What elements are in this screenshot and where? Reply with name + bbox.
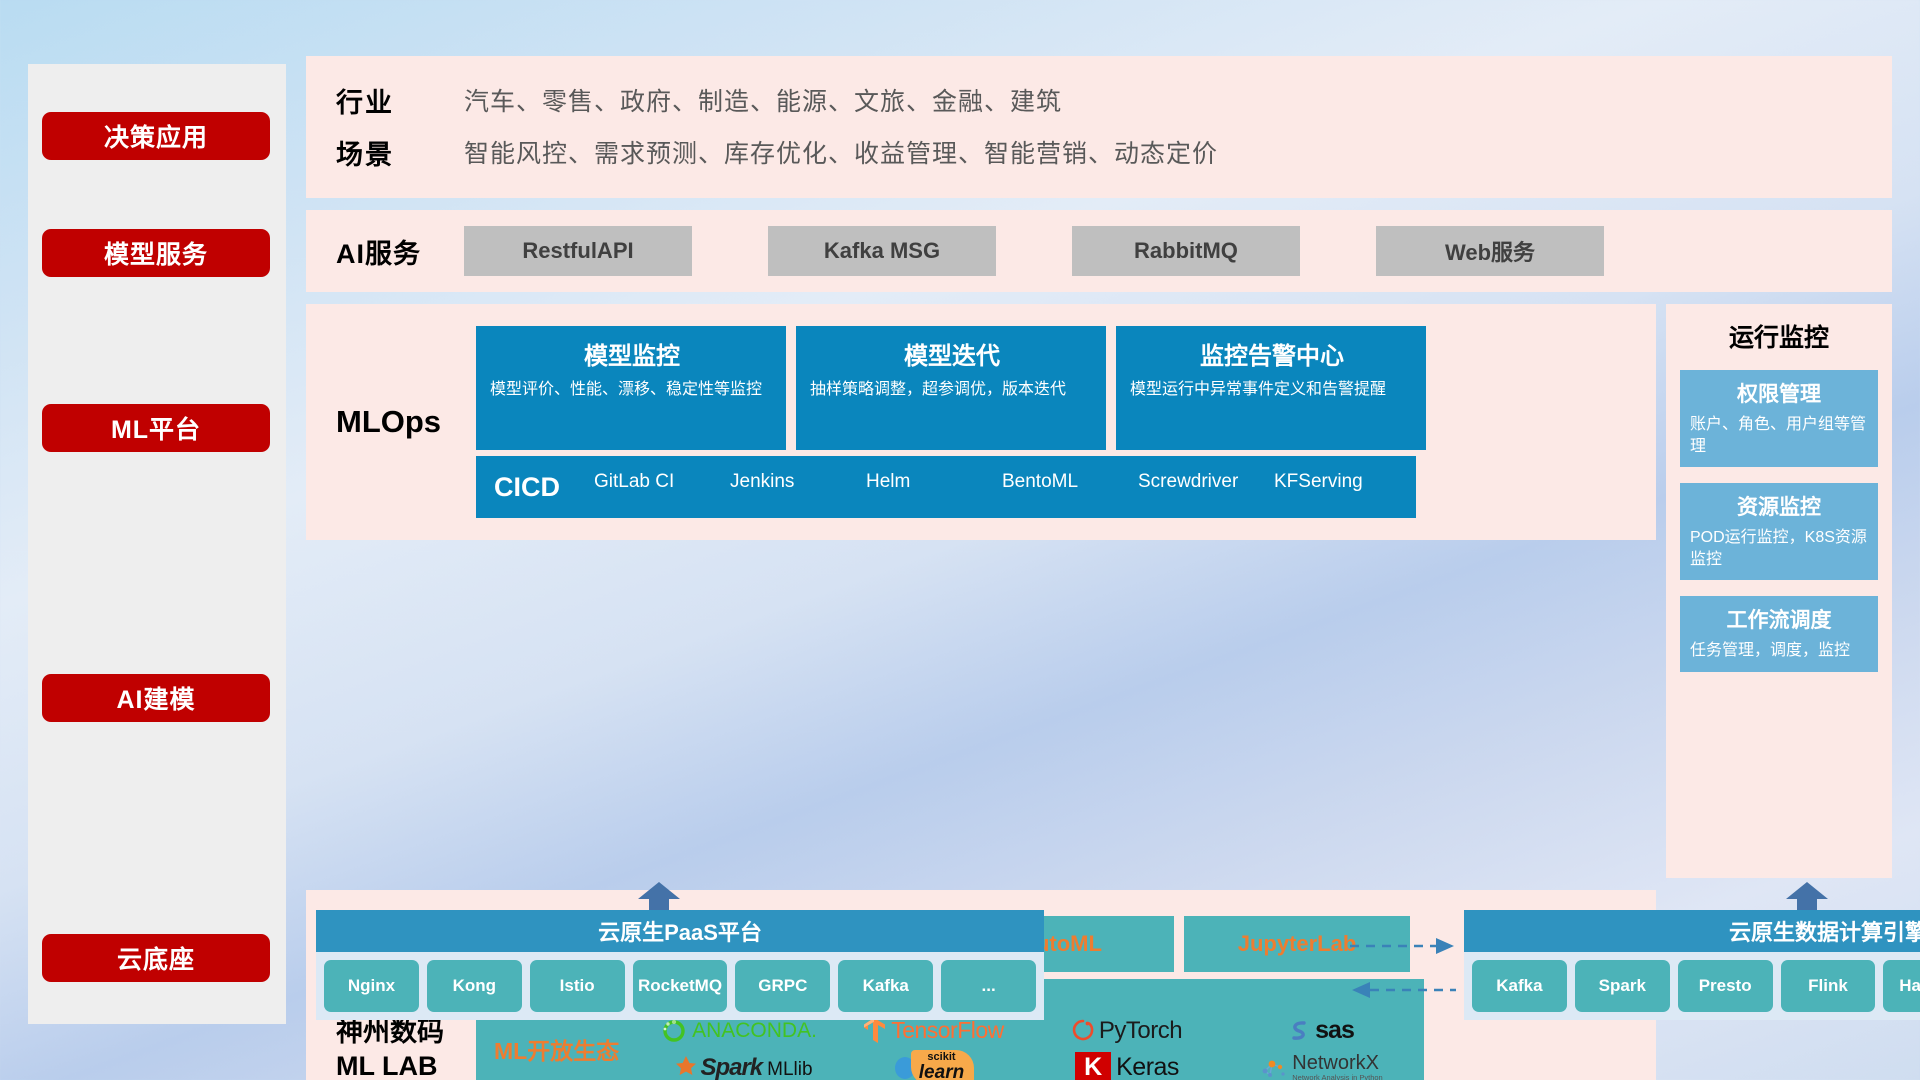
paas-chip-kafka[interactable]: Kafka [838, 960, 933, 1012]
cloud-native-paas-group: 云原生PaaS平台 Nginx Kong Istio RocketMQ GRPC… [316, 910, 1044, 1020]
spark-wordmark-wrap: Spark MLlib [700, 1054, 812, 1080]
ml-lab-label-line2: ML LAB [336, 1050, 476, 1080]
paas-chip-list: Nginx Kong Istio RocketMQ GRPC Kafka ... [316, 952, 1044, 1020]
card-title: 工作流调度 [1690, 604, 1868, 634]
spark-wordmark: Spark [700, 1054, 762, 1080]
ai-service-chip-web-service[interactable]: Web服务 [1376, 226, 1604, 276]
networkx-tagline: Network Analysis in Python [1292, 1073, 1382, 1080]
ai-service-chip-rabbitmq[interactable]: RabbitMQ [1072, 226, 1300, 276]
mlops-card-list: 模型监控 模型评价、性能、漂移、稳定性等监控 模型迭代 抽样策略调整，超参调优，… [476, 326, 1656, 450]
data-engine-chip-list: Kafka Spark Presto Flink Hadoop Storm ..… [1464, 952, 1920, 1020]
industry-value: 汽车、零售、政府、制造、能源、文旅、金融、建筑 [464, 82, 1062, 118]
ai-service-items: RestfulAPI Kafka MSG RabbitMQ Web服务 [464, 226, 1604, 276]
scenario-value: 智能风控、需求预测、库存优化、收益管理、智能营销、动态定价 [464, 134, 1218, 170]
arrow-left-head [1352, 982, 1370, 998]
cicd-item-gitlab-ci[interactable]: GitLab CI [594, 456, 730, 518]
ai-service-chip-kafka-msg[interactable]: Kafka MSG [768, 226, 996, 276]
data-engine-title: 云原生数据计算引擎 [1464, 910, 1920, 952]
mlops-and-monitor-row: MLOps 模型监控 模型评价、性能、漂移、稳定性等监控 模型迭代 抽样策略调整… [306, 304, 1892, 878]
learn-word: learn [919, 1063, 964, 1080]
left-stage-rail: 决策应用 模型服务 ML平台 AI建模 云底座 [28, 64, 286, 1024]
paas-chip-nginx[interactable]: Nginx [324, 960, 419, 1012]
cicd-item-bentoml[interactable]: BentoML [1002, 456, 1138, 518]
card-title: 监控告警中心 [1130, 336, 1414, 371]
networkx-logo: NetworkX Network Analysis in Python [1259, 1053, 1382, 1080]
engine-chip-spark[interactable]: Spark [1575, 960, 1670, 1012]
card-desc: POD运行监控，K8S资源监控 [1690, 527, 1868, 570]
ai-service-chip-restfulapi[interactable]: RestfulAPI [464, 226, 692, 276]
ai-service-label: AI服务 [336, 232, 464, 271]
bidirectional-link-arrows [1348, 934, 1458, 1004]
card-desc: 模型评价、性能、漂移、稳定性等监控 [490, 379, 774, 401]
industry-row: 行业 汽车、零售、政府、制造、能源、文旅、金融、建筑 [336, 74, 1892, 126]
runtime-monitor-rail: 运行监控 权限管理 账户、角色、用户组等管理 资源监控 POD运行监控，K8S资… [1666, 304, 1892, 878]
cicd-item-screwdriver[interactable]: Screwdriver [1138, 456, 1274, 518]
mlops-card-alert-center[interactable]: 监控告警中心 模型运行中异常事件定义和告警提醒 [1116, 326, 1426, 450]
stage-chip-ai-modeling[interactable]: AI建模 [42, 674, 270, 722]
engine-chip-kafka[interactable]: Kafka [1472, 960, 1567, 1012]
card-desc: 模型运行中异常事件定义和告警提醒 [1130, 379, 1414, 401]
mlops-label: MLOps [336, 404, 476, 440]
paas-title: 云原生PaaS平台 [316, 910, 1044, 952]
stage-chip-cloud-base[interactable]: 云底座 [42, 934, 270, 982]
scenario-label: 场景 [336, 133, 464, 172]
ai-service-band: AI服务 RestfulAPI Kafka MSG RabbitMQ Web服务 [306, 210, 1892, 292]
cicd-bar: CICD GitLab CI Jenkins Helm BentoML Scre… [476, 456, 1416, 518]
stage-label: 模型服务 [104, 235, 208, 271]
engine-chip-flink[interactable]: Flink [1781, 960, 1876, 1012]
mlops-card-model-iteration[interactable]: 模型迭代 抽样策略调整，超参调优，版本迭代 [796, 326, 1106, 450]
card-desc: 抽样策略调整，超参调优，版本迭代 [810, 379, 1094, 401]
paas-chip-rocketmq[interactable]: RocketMQ [633, 960, 728, 1012]
monitor-card-resource[interactable]: 资源监控 POD运行监控，K8S资源监控 [1680, 483, 1878, 580]
scikit-learn-logo: scikit learn [892, 1050, 974, 1080]
cicd-item-kfserving[interactable]: KFServing [1274, 456, 1410, 518]
card-title: 模型迭代 [810, 336, 1094, 371]
stage-label: 决策应用 [104, 118, 208, 154]
cicd-item-helm[interactable]: Helm [866, 456, 1002, 518]
scikit-learn-badge: scikit learn [911, 1050, 974, 1080]
cloud-foundation-section: 云原生PaaS平台 Nginx Kong Istio RocketMQ GRPC… [306, 888, 1920, 1038]
keras-mark-icon: K [1075, 1052, 1111, 1080]
stage-chip-ml-platform[interactable]: ML平台 [42, 404, 270, 452]
engine-chip-presto[interactable]: Presto [1678, 960, 1773, 1012]
networkx-wordmark-wrap: NetworkX Network Analysis in Python [1292, 1053, 1382, 1080]
keras-logo: K Keras [1075, 1052, 1179, 1080]
networkx-wordmark: NetworkX [1292, 1053, 1382, 1073]
spark-star-icon [665, 1055, 695, 1080]
stage-label: 云底座 [117, 940, 195, 976]
cloud-native-data-engine-group: 云原生数据计算引擎 Kafka Spark Presto Flink Hadoo… [1464, 910, 1920, 1020]
spark-mllib-logo: Spark MLlib [665, 1054, 812, 1080]
paas-chip-more[interactable]: ... [941, 960, 1036, 1012]
runtime-monitor-title: 运行监控 [1680, 318, 1878, 354]
mlops-card-model-monitoring[interactable]: 模型监控 模型评价、性能、漂移、稳定性等监控 [476, 326, 786, 450]
paas-chip-grpc[interactable]: GRPC [735, 960, 830, 1012]
card-desc: 账户、角色、用户组等管理 [1690, 414, 1868, 457]
stage-label: ML平台 [111, 410, 201, 446]
card-title: 权限管理 [1690, 378, 1868, 408]
paas-chip-istio[interactable]: Istio [530, 960, 625, 1012]
keras-wordmark: Keras [1116, 1053, 1179, 1080]
stage-chip-decision-app[interactable]: 决策应用 [42, 112, 270, 160]
monitor-card-workflow[interactable]: 工作流调度 任务管理，调度，监控 [1680, 596, 1878, 672]
cicd-item-jenkins[interactable]: Jenkins [730, 456, 866, 518]
mllib-wordmark: MLlib [767, 1059, 812, 1080]
stage-label: AI建模 [116, 680, 195, 716]
monitor-card-permission[interactable]: 权限管理 账户、角色、用户组等管理 [1680, 370, 1878, 467]
cicd-title: CICD [476, 472, 594, 503]
stage-chip-model-service[interactable]: 模型服务 [42, 229, 270, 277]
paas-chip-kong[interactable]: Kong [427, 960, 522, 1012]
networkx-graph-icon [1259, 1055, 1287, 1080]
card-title: 资源监控 [1690, 491, 1868, 521]
arrow-right-head [1436, 938, 1454, 954]
industry-label: 行业 [336, 81, 464, 120]
card-title: 模型监控 [490, 336, 774, 371]
card-desc: 任务管理，调度，监控 [1690, 640, 1868, 662]
engine-chip-hadoop[interactable]: Hadoop [1883, 960, 1920, 1012]
scenario-row: 场景 智能风控、需求预测、库存优化、收益管理、智能营销、动态定价 [336, 126, 1892, 178]
mlops-band: MLOps 模型监控 模型评价、性能、漂移、稳定性等监控 模型迭代 抽样策略调整… [306, 304, 1656, 540]
industry-scenario-band: 行业 汽车、零售、政府、制造、能源、文旅、金融、建筑 场景 智能风控、需求预测、… [306, 56, 1892, 198]
